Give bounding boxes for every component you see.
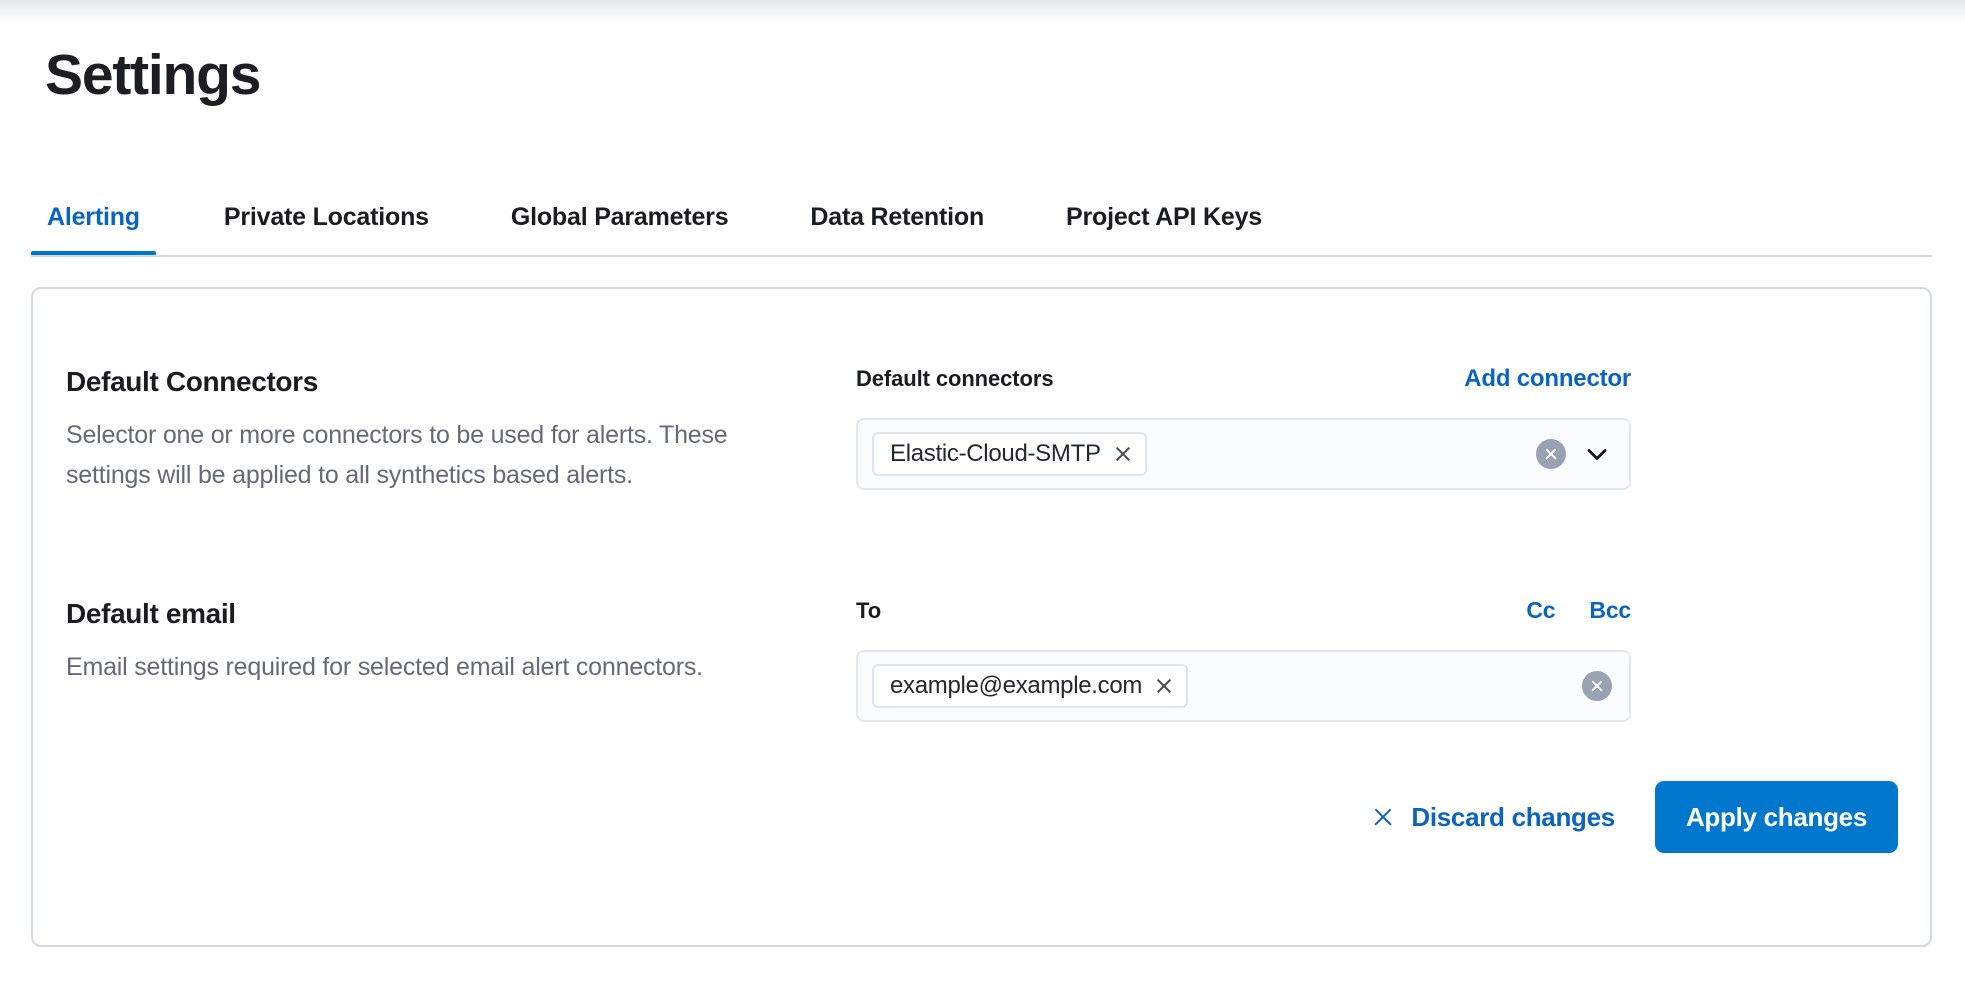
email-pill-label: example@example.com: [890, 672, 1142, 700]
connector-pill[interactable]: Elastic-Cloud-SMTP: [872, 432, 1147, 476]
tab-alerting[interactable]: Alerting: [31, 182, 156, 252]
default-email-section: Default email Email settings required fo…: [66, 597, 1896, 722]
settings-tabs: Alerting Private Locations Global Parame…: [31, 182, 1932, 252]
tabs-divider: [31, 255, 1932, 257]
clear-circle-icon[interactable]: [1536, 439, 1566, 469]
clear-circle-icon[interactable]: [1582, 671, 1612, 701]
header-scroll-shadow: [0, 0, 1965, 26]
cc-link[interactable]: Cc: [1526, 597, 1555, 624]
tab-label: Alerting: [47, 203, 140, 232]
page-title: Settings: [45, 40, 260, 110]
tab-project-api-keys[interactable]: Project API Keys: [1050, 182, 1278, 252]
default-connectors-title: Default Connectors: [66, 365, 816, 399]
add-connector-link[interactable]: Add connector: [1464, 365, 1631, 393]
default-email-field-column: To Cc Bcc example@example.com: [856, 597, 1896, 722]
to-email-combobox[interactable]: example@example.com: [856, 650, 1631, 722]
to-field-label: To: [856, 598, 881, 624]
bcc-link[interactable]: Bcc: [1589, 597, 1631, 624]
tab-label: Private Locations: [224, 203, 429, 232]
default-email-title: Default email: [66, 597, 816, 631]
default-email-description-column: Default email Email settings required fo…: [66, 597, 856, 722]
tab-data-retention[interactable]: Data Retention: [794, 182, 1000, 252]
default-connectors-description: Selector one or more connectors to be us…: [66, 415, 806, 495]
default-connectors-field-header: Default connectors Add connector: [856, 365, 1631, 395]
connector-pill-label: Elastic-Cloud-SMTP: [890, 440, 1101, 468]
discard-changes-button[interactable]: Discard changes: [1366, 794, 1621, 841]
default-connectors-section: Default Connectors Selector one or more …: [66, 365, 1896, 495]
remove-connector-icon[interactable]: [1114, 445, 1132, 463]
email-pill[interactable]: example@example.com: [872, 664, 1188, 708]
settings-page: Settings Alerting Private Locations Glob…: [0, 0, 1965, 989]
tab-global-parameters[interactable]: Global Parameters: [495, 182, 745, 252]
discard-changes-label: Discard changes: [1411, 802, 1615, 833]
tab-private-locations[interactable]: Private Locations: [208, 182, 445, 252]
default-connectors-field-column: Default connectors Add connector Elastic…: [856, 365, 1896, 495]
apply-changes-button[interactable]: Apply changes: [1655, 781, 1898, 853]
default-email-description: Email settings required for selected ema…: [66, 647, 806, 687]
chevron-down-icon[interactable]: [1582, 439, 1612, 469]
email-head-actions: Cc Bcc: [1526, 597, 1631, 624]
to-field-header: To Cc Bcc: [856, 597, 1631, 627]
panel-footer-actions: Discard changes Apply changes: [1366, 781, 1898, 853]
tab-label: Data Retention: [810, 203, 984, 232]
default-connectors-field-label: Default connectors: [856, 366, 1053, 392]
default-connectors-combobox[interactable]: Elastic-Cloud-SMTP: [856, 418, 1631, 490]
combobox-actions: [1536, 420, 1612, 488]
tab-label: Global Parameters: [511, 203, 729, 232]
default-connectors-description-column: Default Connectors Selector one or more …: [66, 365, 856, 495]
alerting-settings-panel: Default Connectors Selector one or more …: [31, 287, 1932, 947]
tab-label: Project API Keys: [1066, 203, 1262, 232]
cross-icon: [1372, 806, 1394, 828]
remove-email-icon[interactable]: [1155, 677, 1173, 695]
to-combobox-actions: [1582, 652, 1612, 720]
